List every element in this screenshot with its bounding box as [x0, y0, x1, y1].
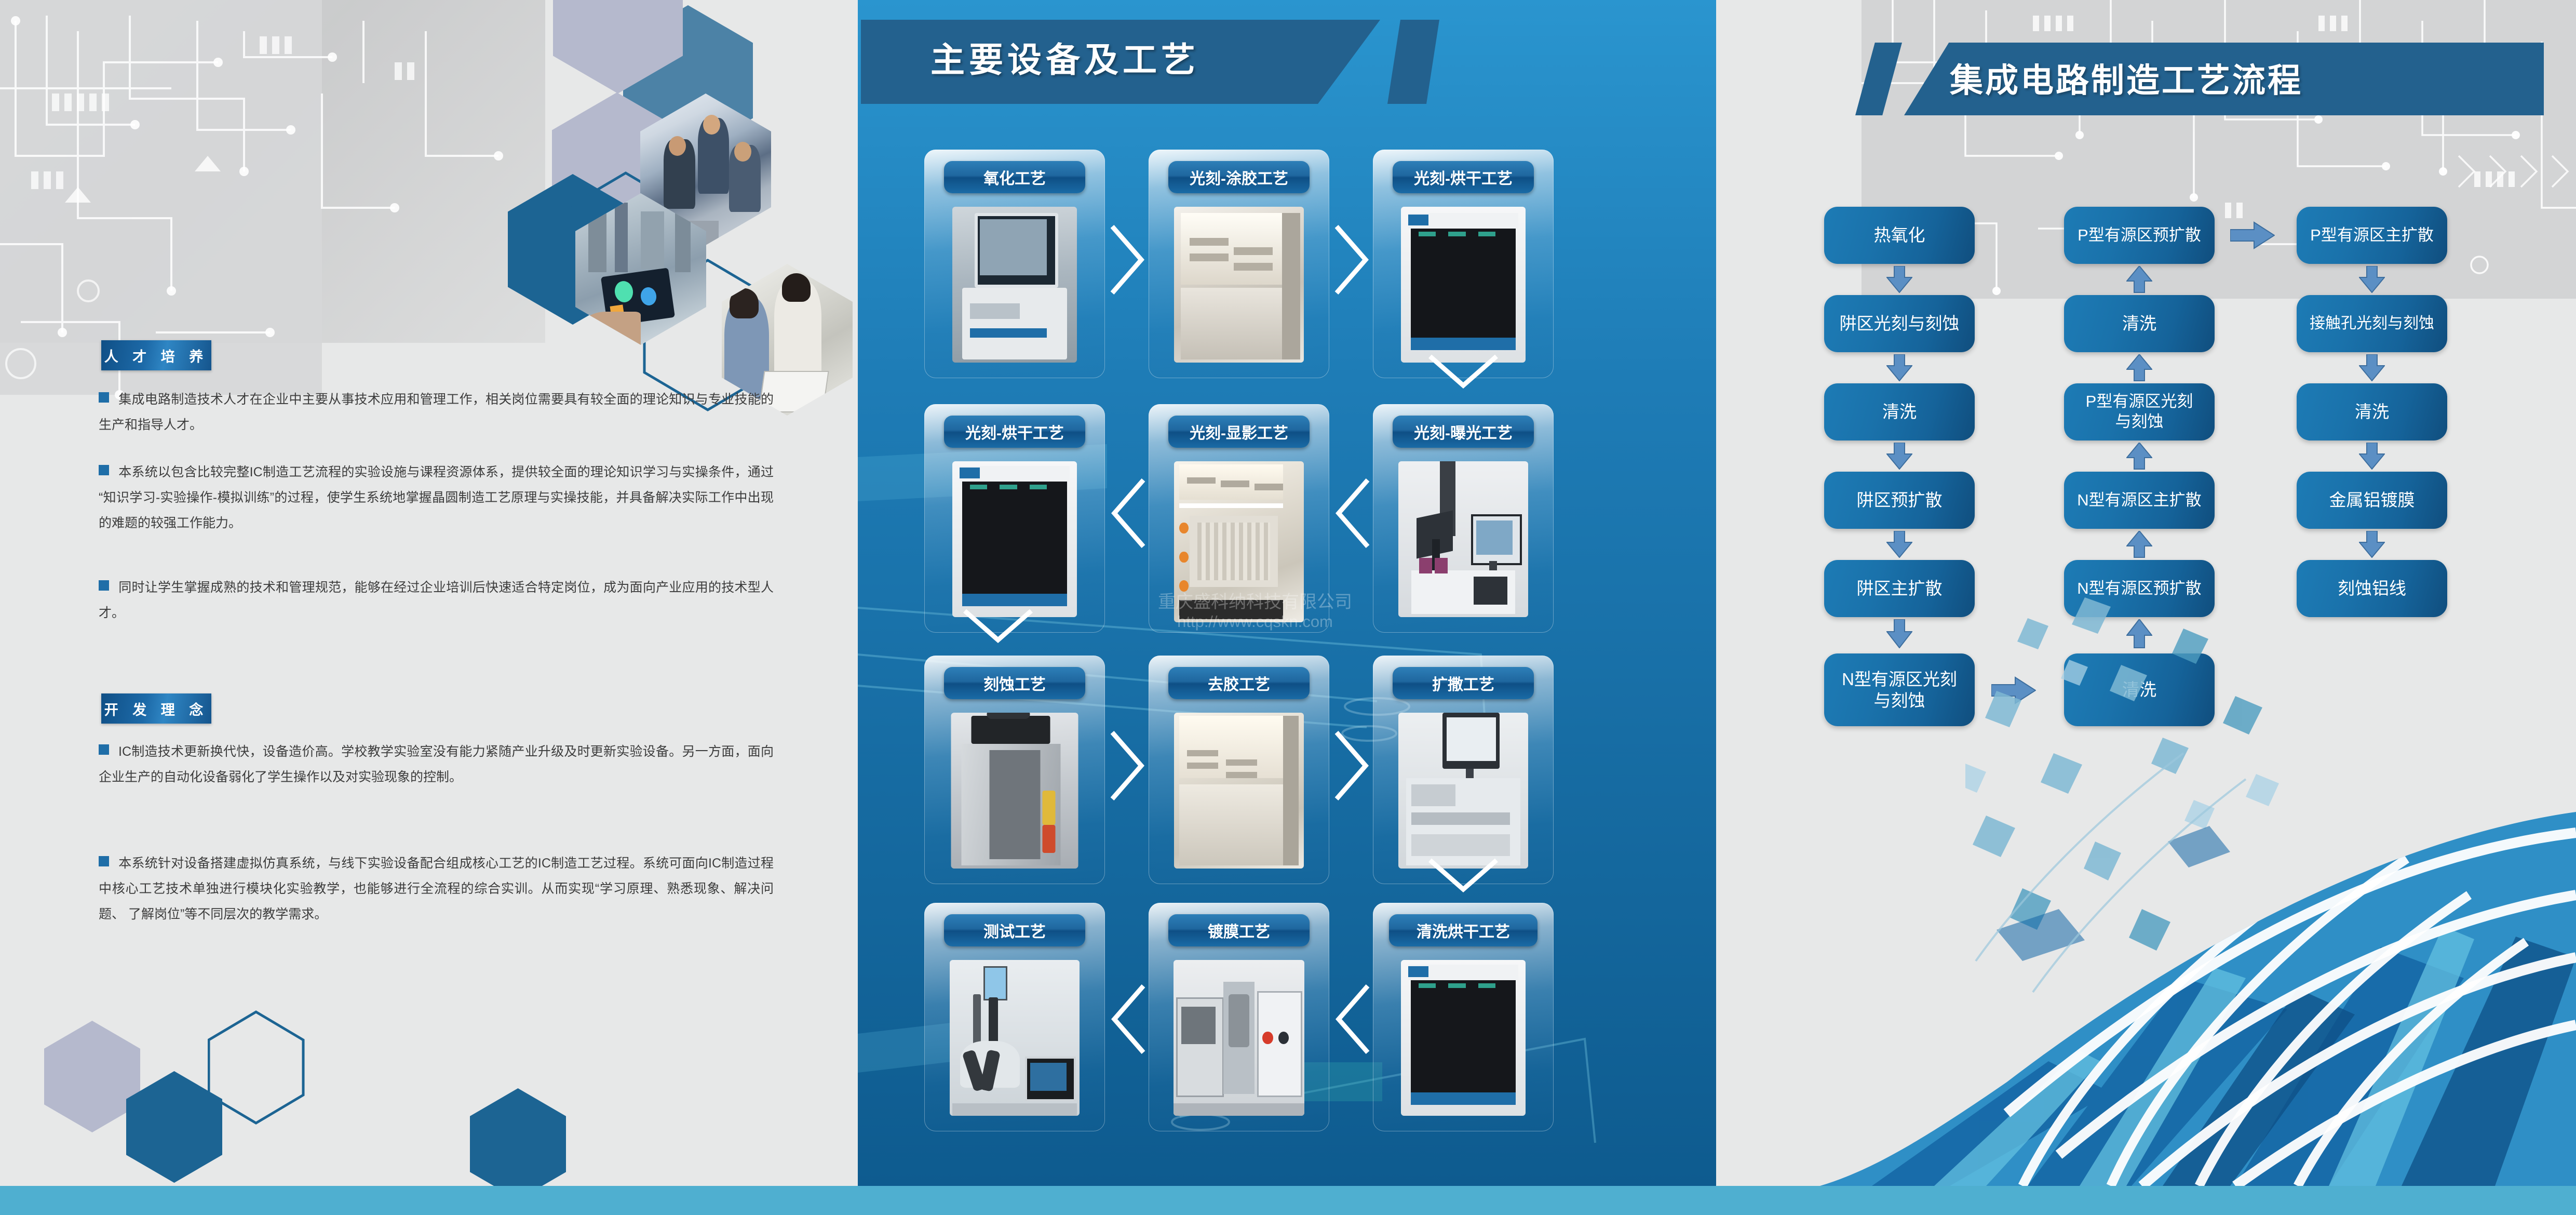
equipment-photo-etch — [951, 713, 1078, 869]
paragraph-concept-1: IC制造技术更新换代快，设备造价高。学校教学实验室没有能力紧随产业升级及时更新实… — [99, 739, 774, 790]
chevron-right-icon — [1109, 729, 1147, 802]
flow-box[interactable]: 清洗 — [2064, 295, 2215, 352]
bullet-square — [99, 744, 109, 755]
equipment-label: 光刻-烘干工艺 — [944, 416, 1085, 448]
chevron-right-icon — [1109, 223, 1147, 296]
right-panel: 集成电路制造工艺流程 热氧化 阱区光刻与刻蚀 清洗 阱区预扩散 阱区主扩散 N型… — [1716, 0, 2576, 1186]
equipment-photo-develop — [1174, 461, 1304, 622]
equipment-photo-strip — [1174, 713, 1304, 869]
equipment-card[interactable]: 光刻-烘干工艺 — [1373, 150, 1554, 378]
equipment-card[interactable]: 光刻-涂胶工艺 — [1149, 150, 1329, 378]
flow-box[interactable]: 阱区预扩散 — [1824, 472, 1975, 529]
chevron-left-icon — [1333, 477, 1371, 550]
flow-box[interactable]: P型有源区光刻 与刻蚀 — [2064, 383, 2215, 440]
equipment-photo-exposure — [1398, 461, 1528, 617]
equipment-label: 刻蚀工艺 — [944, 667, 1085, 699]
equipment-label: 光刻-烘干工艺 — [1393, 161, 1534, 193]
bottom-accent-strip — [0, 1186, 2576, 1215]
flow-box[interactable]: 阱区主扩散 — [1824, 560, 1975, 617]
left-panel: 人 才 培 养 集成电路制造技术人才在企业中主要从事技术应用和管理工作，相关岗位… — [0, 0, 858, 1186]
circuit-lines-decoration — [0, 0, 545, 416]
equipment-photo-test — [950, 960, 1080, 1116]
arrow-down-icon — [1886, 354, 1912, 381]
chevron-left-icon — [1109, 983, 1147, 1056]
equipment-card[interactable]: 氧化工艺 — [924, 150, 1105, 378]
equipment-label: 光刻-曝光工艺 — [1393, 416, 1534, 448]
hexagon-decor-bottom-right-blue — [470, 1088, 566, 1186]
chevron-left-icon — [1109, 477, 1147, 550]
equipment-card[interactable]: 光刻-显影工艺 — [1149, 404, 1329, 633]
bullet-square — [99, 856, 109, 866]
right-panel-title: 集成电路制造工艺流程 — [1950, 54, 2303, 102]
bullet-square — [99, 580, 109, 591]
arrow-down-icon — [2359, 531, 2385, 558]
equipment-label: 去胶工艺 — [1168, 667, 1310, 699]
equipment-label: 光刻-涂胶工艺 — [1168, 161, 1310, 193]
section-tag-concept: 开 发 理 念 — [101, 693, 211, 724]
equipment-card[interactable]: 测试工艺 — [924, 903, 1105, 1131]
equipment-card[interactable]: 镀膜工艺 — [1149, 903, 1329, 1131]
arrow-down-icon — [1886, 443, 1912, 470]
arrow-down-icon — [2359, 443, 2385, 470]
paragraph-talent-2: 本系统以包含比较完整IC制造工艺流程的实验设施与课程资源体系，提供较全面的理论知… — [99, 460, 774, 536]
chevron-right-icon — [1333, 223, 1371, 296]
paragraph-text: 同时让学生掌握成熟的技术和管理规范，能够在经过企业培训后快速适合特定岗位，成为面… — [99, 580, 774, 620]
paragraph-talent-3: 同时让学生掌握成熟的技术和管理规范，能够在经过企业培训后快速适合特定岗位，成为面… — [99, 575, 774, 626]
equipment-label: 清洗烘干工艺 — [1389, 914, 1537, 946]
poster-root: 人 才 培 养 集成电路制造技术人才在企业中主要从事技术应用和管理工作，相关岗位… — [0, 0, 2576, 1215]
flow-box[interactable]: 清洗 — [1824, 383, 1975, 440]
paragraph-text: 本系统以包含比较完整IC制造工艺流程的实验设施与课程资源体系，提供较全面的理论知… — [99, 465, 774, 530]
equipment-card[interactable]: 清洗烘干工艺 — [1373, 903, 1554, 1131]
equipment-label: 扩撒工艺 — [1393, 667, 1534, 699]
bullet-square — [99, 465, 109, 475]
equipment-photo-diffusion — [1398, 713, 1528, 869]
arrow-up-icon — [2126, 354, 2152, 381]
equipment-card[interactable]: 光刻-曝光工艺 — [1373, 404, 1554, 633]
flow-box[interactable]: 金属铝镀膜 — [2297, 472, 2447, 529]
equipment-label: 测试工艺 — [944, 914, 1085, 946]
flow-box[interactable]: P型有源区预扩散 — [2064, 207, 2215, 264]
arrow-right-icon — [2230, 221, 2275, 249]
arrow-up-icon — [2126, 266, 2152, 293]
equipment-label: 光刻-显影工艺 — [1168, 416, 1310, 448]
flow-box[interactable]: 热氧化 — [1824, 207, 1975, 264]
equipment-label: 镀膜工艺 — [1168, 914, 1310, 946]
equipment-photo-bake — [1401, 207, 1526, 363]
flow-box[interactable]: 阱区光刻与刻蚀 — [1824, 295, 1975, 352]
hexagon-decor-bottom-lavender — [44, 1021, 140, 1132]
arrow-up-icon — [2126, 443, 2152, 470]
equipment-photo-coating — [1174, 207, 1304, 363]
flow-box[interactable]: P型有源区主扩散 — [2297, 207, 2447, 264]
arrow-down-icon — [1886, 531, 1912, 558]
chevron-right-icon — [1333, 729, 1371, 802]
middle-panel-title: 主要设备及工艺 — [930, 32, 1199, 82]
equipment-photo-bake-2 — [952, 461, 1077, 617]
equipment-card[interactable]: 扩撒工艺 — [1373, 656, 1554, 884]
arrow-down-icon — [1886, 266, 1912, 293]
equipment-label: 氧化工艺 — [944, 161, 1085, 193]
paragraph-text: 集成电路制造技术人才在企业中主要从事技术应用和管理工作，相关岗位需要具有较全面的… — [99, 392, 774, 432]
paragraph-concept-2: 本系统针对设备搭建虚拟仿真系统，与线下实验设备配合组成核心工艺的IC制造工艺过程… — [99, 851, 774, 927]
arrow-down-icon — [2359, 354, 2385, 381]
equipment-card[interactable]: 刻蚀工艺 — [924, 656, 1105, 884]
flow-box[interactable]: N型有源区主扩散 — [2064, 472, 2215, 529]
equipment-photo-oxidation — [952, 207, 1077, 363]
middle-title-slash — [1387, 20, 1439, 104]
section-tag-talent: 人 才 培 养 — [101, 340, 211, 370]
section-tag-concept-label: 开 发 理 念 — [104, 699, 209, 719]
hexagon-outline-bottom — [208, 1010, 317, 1135]
bullet-square — [99, 392, 109, 403]
chevron-down-icon — [1427, 857, 1500, 899]
chevron-down-icon — [1427, 353, 1500, 395]
equipment-card[interactable]: 光刻-烘干工艺 — [924, 404, 1105, 633]
equipment-card[interactable]: 去胶工艺 — [1149, 656, 1329, 884]
paragraph-talent-1: 集成电路制造技术人才在企业中主要从事技术应用和管理工作，相关岗位需要具有较全面的… — [99, 387, 774, 438]
equipment-photo-coating-film — [1174, 960, 1304, 1116]
chevron-left-icon — [1333, 983, 1371, 1056]
chevron-down-icon — [962, 608, 1034, 649]
section-tag-talent-label: 人 才 培 养 — [104, 345, 209, 366]
middle-panel: 主要设备及工艺 氧化工艺 光刻-涂胶工艺 — [858, 0, 1716, 1186]
paragraph-text: IC制造技术更新换代快，设备造价高。学校教学实验室没有能力紧随产业升级及时更新实… — [99, 744, 774, 784]
flow-box[interactable]: 接触孔光刻与刻蚀 — [2297, 295, 2447, 352]
arrow-up-icon — [2126, 531, 2152, 558]
paragraph-text: 本系统针对设备搭建虚拟仿真系统，与线下实验设备配合组成核心工艺的IC制造工艺过程… — [99, 856, 774, 922]
equipment-photo-clean-dry — [1401, 960, 1526, 1116]
diamond-particles-decoration — [1965, 597, 2433, 1065]
arrow-down-icon — [2359, 266, 2385, 293]
flow-box[interactable]: 清洗 — [2297, 383, 2447, 440]
